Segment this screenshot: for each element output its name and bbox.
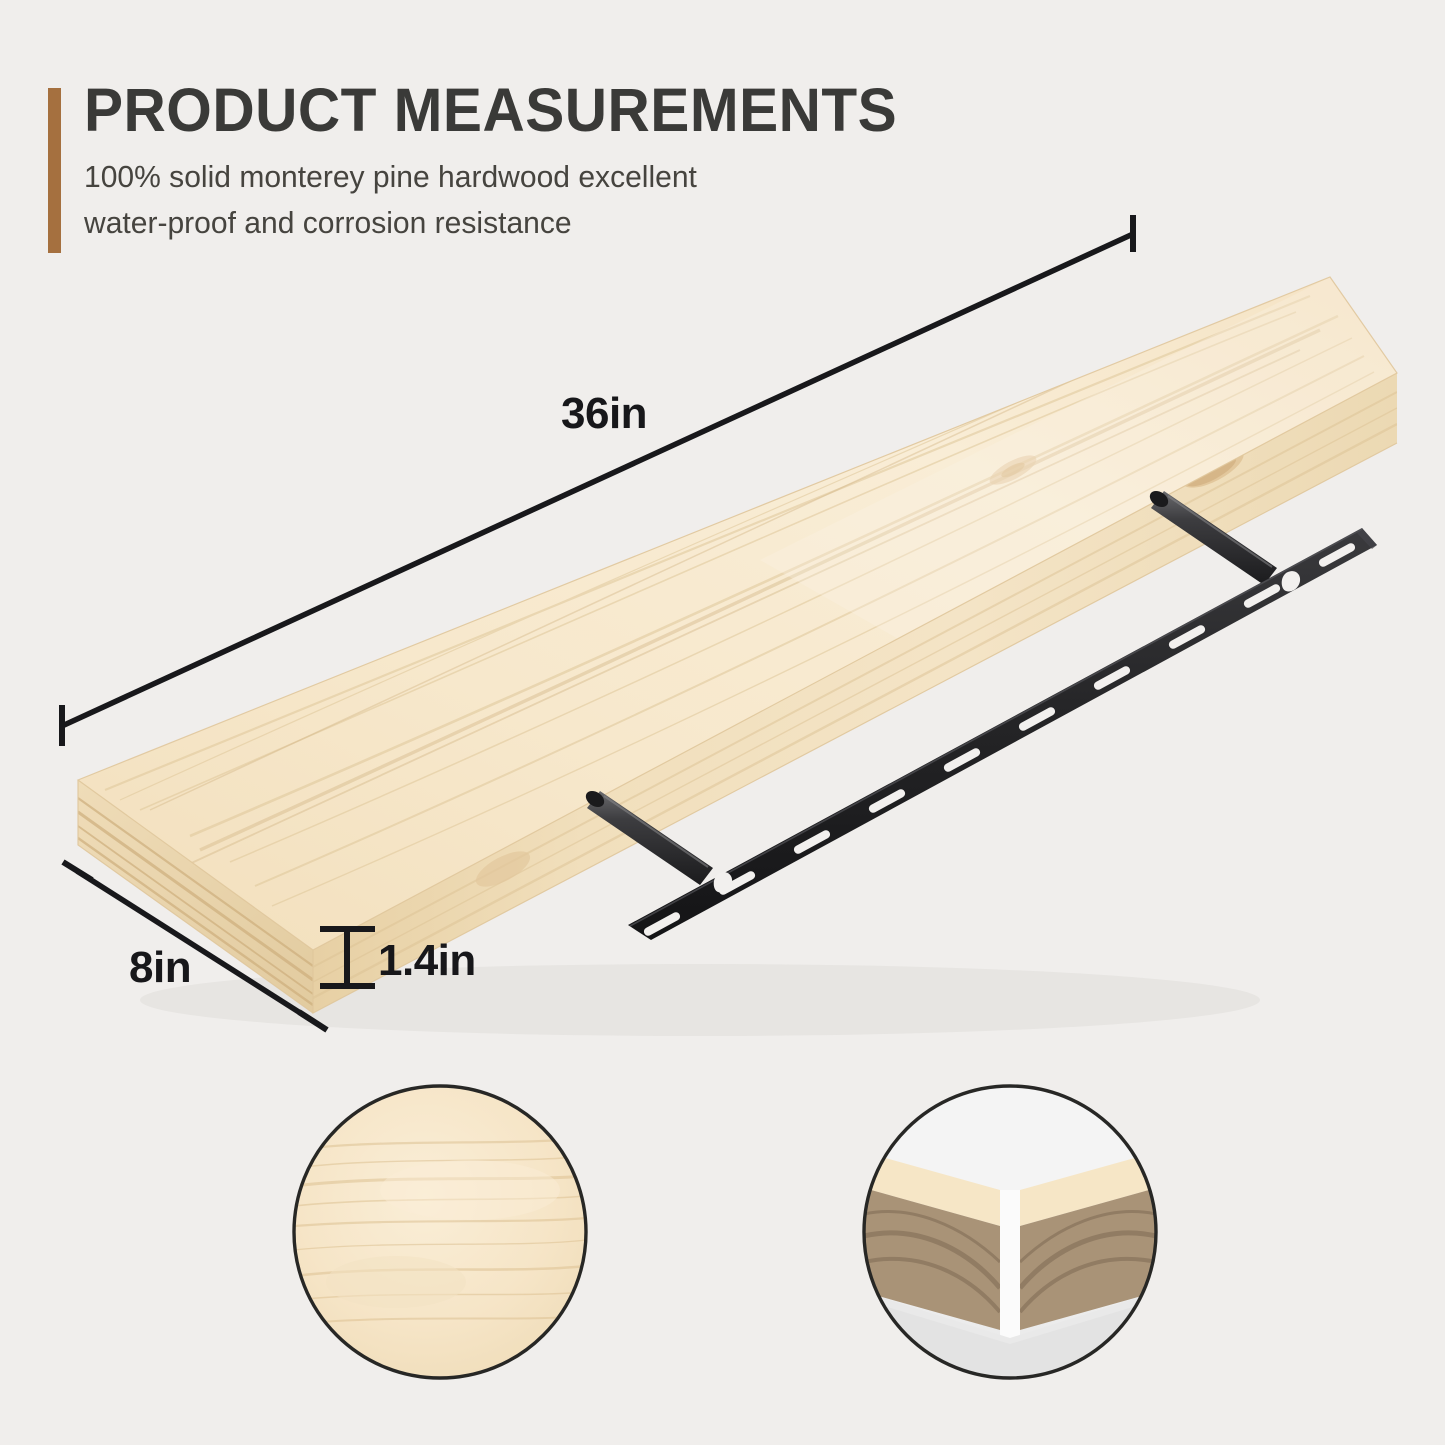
detail-circle-grain-closeup <box>294 1086 586 1378</box>
dimension-label-depth: 8in <box>129 943 191 993</box>
dimension-label-length: 36in <box>561 389 647 439</box>
dimension-label-thickness: 1.4in <box>378 936 476 986</box>
detail-circle-edge-closeup <box>864 1086 1156 1378</box>
product-measurements-infographic: PRODUCT MEASUREMENTS 100% solid monterey… <box>0 0 1445 1445</box>
shelf-board <box>78 277 1397 1013</box>
product-illustration <box>0 0 1445 1445</box>
